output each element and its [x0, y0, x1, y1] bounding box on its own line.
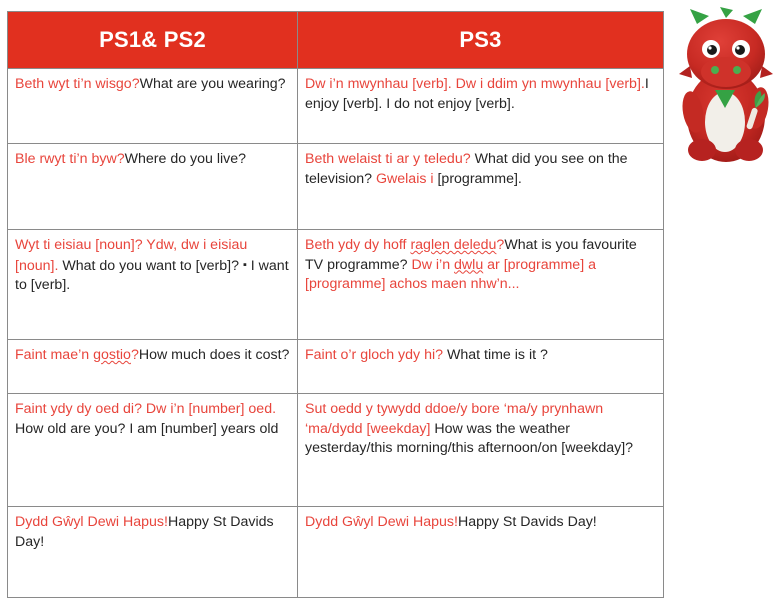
table-row: Beth wyt ti’n wisgo?What are you wearing… — [8, 69, 664, 144]
text-run-welsh: Dydd Gŵyl Dewi Hapus! — [305, 514, 458, 530]
cell-ps12-row6: Dydd Gŵyl Dewi Hapus!Happy St Davids Day… — [8, 507, 298, 598]
text-run-welsh-squiggly: dwlu — [454, 257, 483, 273]
cell-content: Dw i’n mwynhau [verb]. Dw i ddim yn mwyn… — [298, 69, 663, 118]
cell-ps12-row5: Faint ydy dy oed di? Dw i’n [number] oed… — [8, 394, 298, 507]
cell-content: Dydd Gŵyl Dewi Hapus!Happy St Davids Day… — [8, 507, 297, 556]
table-row: Dydd Gŵyl Dewi Hapus!Happy St Davids Day… — [8, 507, 664, 598]
column-header-ps1-ps2: PS1& PS2 — [8, 12, 298, 69]
text-run-english: Where do you live? — [125, 151, 246, 167]
cell-content: Beth ydy dy hoff raglen deledu?What is y… — [298, 230, 663, 299]
cell-ps12-row3: Wyt ti eisiau [noun]? Ydw, dw i eisiau [… — [8, 230, 298, 340]
cell-content: Beth wyt ti’n wisgo?What are you wearing… — [8, 69, 297, 99]
text-run-welsh: Beth welaist ti ar y teledu? — [305, 151, 475, 167]
text-run-welsh: Beth wyt ti’n wisgo? — [15, 76, 140, 92]
text-run-english: What are you wearing? — [140, 76, 286, 92]
column-header-ps3: PS3 — [298, 12, 664, 69]
cell-content: Faint o’r gloch ydy hi? What time is it … — [298, 340, 663, 370]
cell-content: Wyt ti eisiau [noun]? Ydw, dw i eisiau [… — [8, 230, 297, 300]
text-run-welsh: Faint ydy dy oed di? Dw i’n [number] oed… — [15, 401, 276, 417]
table-header-row: PS1& PS2 PS3 — [8, 12, 664, 69]
cell-content: Ble rwyt ti’n byw?Where do you live? — [8, 144, 297, 174]
text-run-welsh: Dw i’n — [411, 257, 454, 273]
text-run-welsh: Ble rwyt ti’n byw? — [15, 151, 125, 167]
cell-ps12-row2: Ble rwyt ti’n byw?Where do you live? — [8, 144, 298, 230]
phrase-table: PS1& PS2 PS3 Beth wyt ti’n wisgo?What ar… — [7, 11, 664, 598]
table-row: Faint ydy dy oed di? Dw i’n [number] oed… — [8, 394, 664, 507]
cell-content: Beth welaist ti ar y teledu? What did yo… — [298, 144, 663, 193]
cell-content: Sut oedd y tywydd ddoe/y bore ‘ma/y pryn… — [298, 394, 663, 463]
table-row: Ble rwyt ti’n byw?Where do you live? Bet… — [8, 144, 664, 230]
table-row: Wyt ti eisiau [noun]? Ydw, dw i eisiau [… — [8, 230, 664, 340]
cell-ps3-row2: Beth welaist ti ar y teledu? What did yo… — [298, 144, 664, 230]
table-body: Beth wyt ti’n wisgo?What are you wearing… — [8, 69, 664, 598]
cell-ps3-row4: Faint o’r gloch ydy hi? What time is it … — [298, 340, 664, 394]
slide-canvas: PS1& PS2 PS3 Beth wyt ti’n wisgo?What ar… — [0, 0, 779, 608]
text-run-welsh: Dydd Gŵyl Dewi Hapus! — [15, 514, 168, 530]
text-run-english: [programme]. — [437, 171, 521, 187]
text-run-welsh: ? — [131, 347, 139, 363]
text-run-welsh: Faint o’r gloch ydy hi? — [305, 347, 447, 363]
table-row: Faint mae’n gostio?How much does it cost… — [8, 340, 664, 394]
text-run-welsh: Beth ydy dy hoff — [305, 237, 410, 253]
cell-ps12-row1: Beth wyt ti’n wisgo?What are you wearing… — [8, 69, 298, 144]
text-run-welsh: Gwelais i — [376, 171, 438, 187]
welsh-dragon-plush-image — [678, 4, 774, 170]
cell-content: Dydd Gŵyl Dewi Hapus!Happy St Davids Day… — [298, 507, 663, 537]
cell-content: Faint ydy dy oed di? Dw i’n [number] oed… — [8, 394, 297, 443]
text-run-english: What do you want to [verb]? — [62, 258, 243, 274]
text-run-welsh: Faint mae’n — [15, 347, 93, 363]
text-run-english: What time is it ? — [447, 347, 548, 363]
cell-ps12-row4: Faint mae’n gostio?How much does it cost… — [8, 340, 298, 394]
text-run-welsh-squiggly: raglen deledu — [410, 237, 496, 253]
cell-ps3-row6: Dydd Gŵyl Dewi Hapus!Happy St Davids Day… — [298, 507, 664, 598]
text-run-english: How much does it cost? — [139, 347, 290, 363]
text-run-english: Happy St Davids Day! — [458, 514, 597, 530]
text-run-welsh: Dw i’n mwynhau [verb]. Dw i ddim yn mwyn… — [305, 76, 645, 92]
cell-ps3-row1: Dw i’n mwynhau [verb]. Dw i ddim yn mwyn… — [298, 69, 664, 144]
text-run-english: How old are you? I am [number] years old — [15, 421, 278, 437]
cell-content: Faint mae’n gostio?How much does it cost… — [8, 340, 297, 370]
cell-ps3-row5: Sut oedd y tywydd ddoe/y bore ‘ma/y pryn… — [298, 394, 664, 507]
text-run-welsh-squiggly: gostio — [93, 347, 131, 363]
cell-ps3-row3: Beth ydy dy hoff raglen deledu?What is y… — [298, 230, 664, 340]
